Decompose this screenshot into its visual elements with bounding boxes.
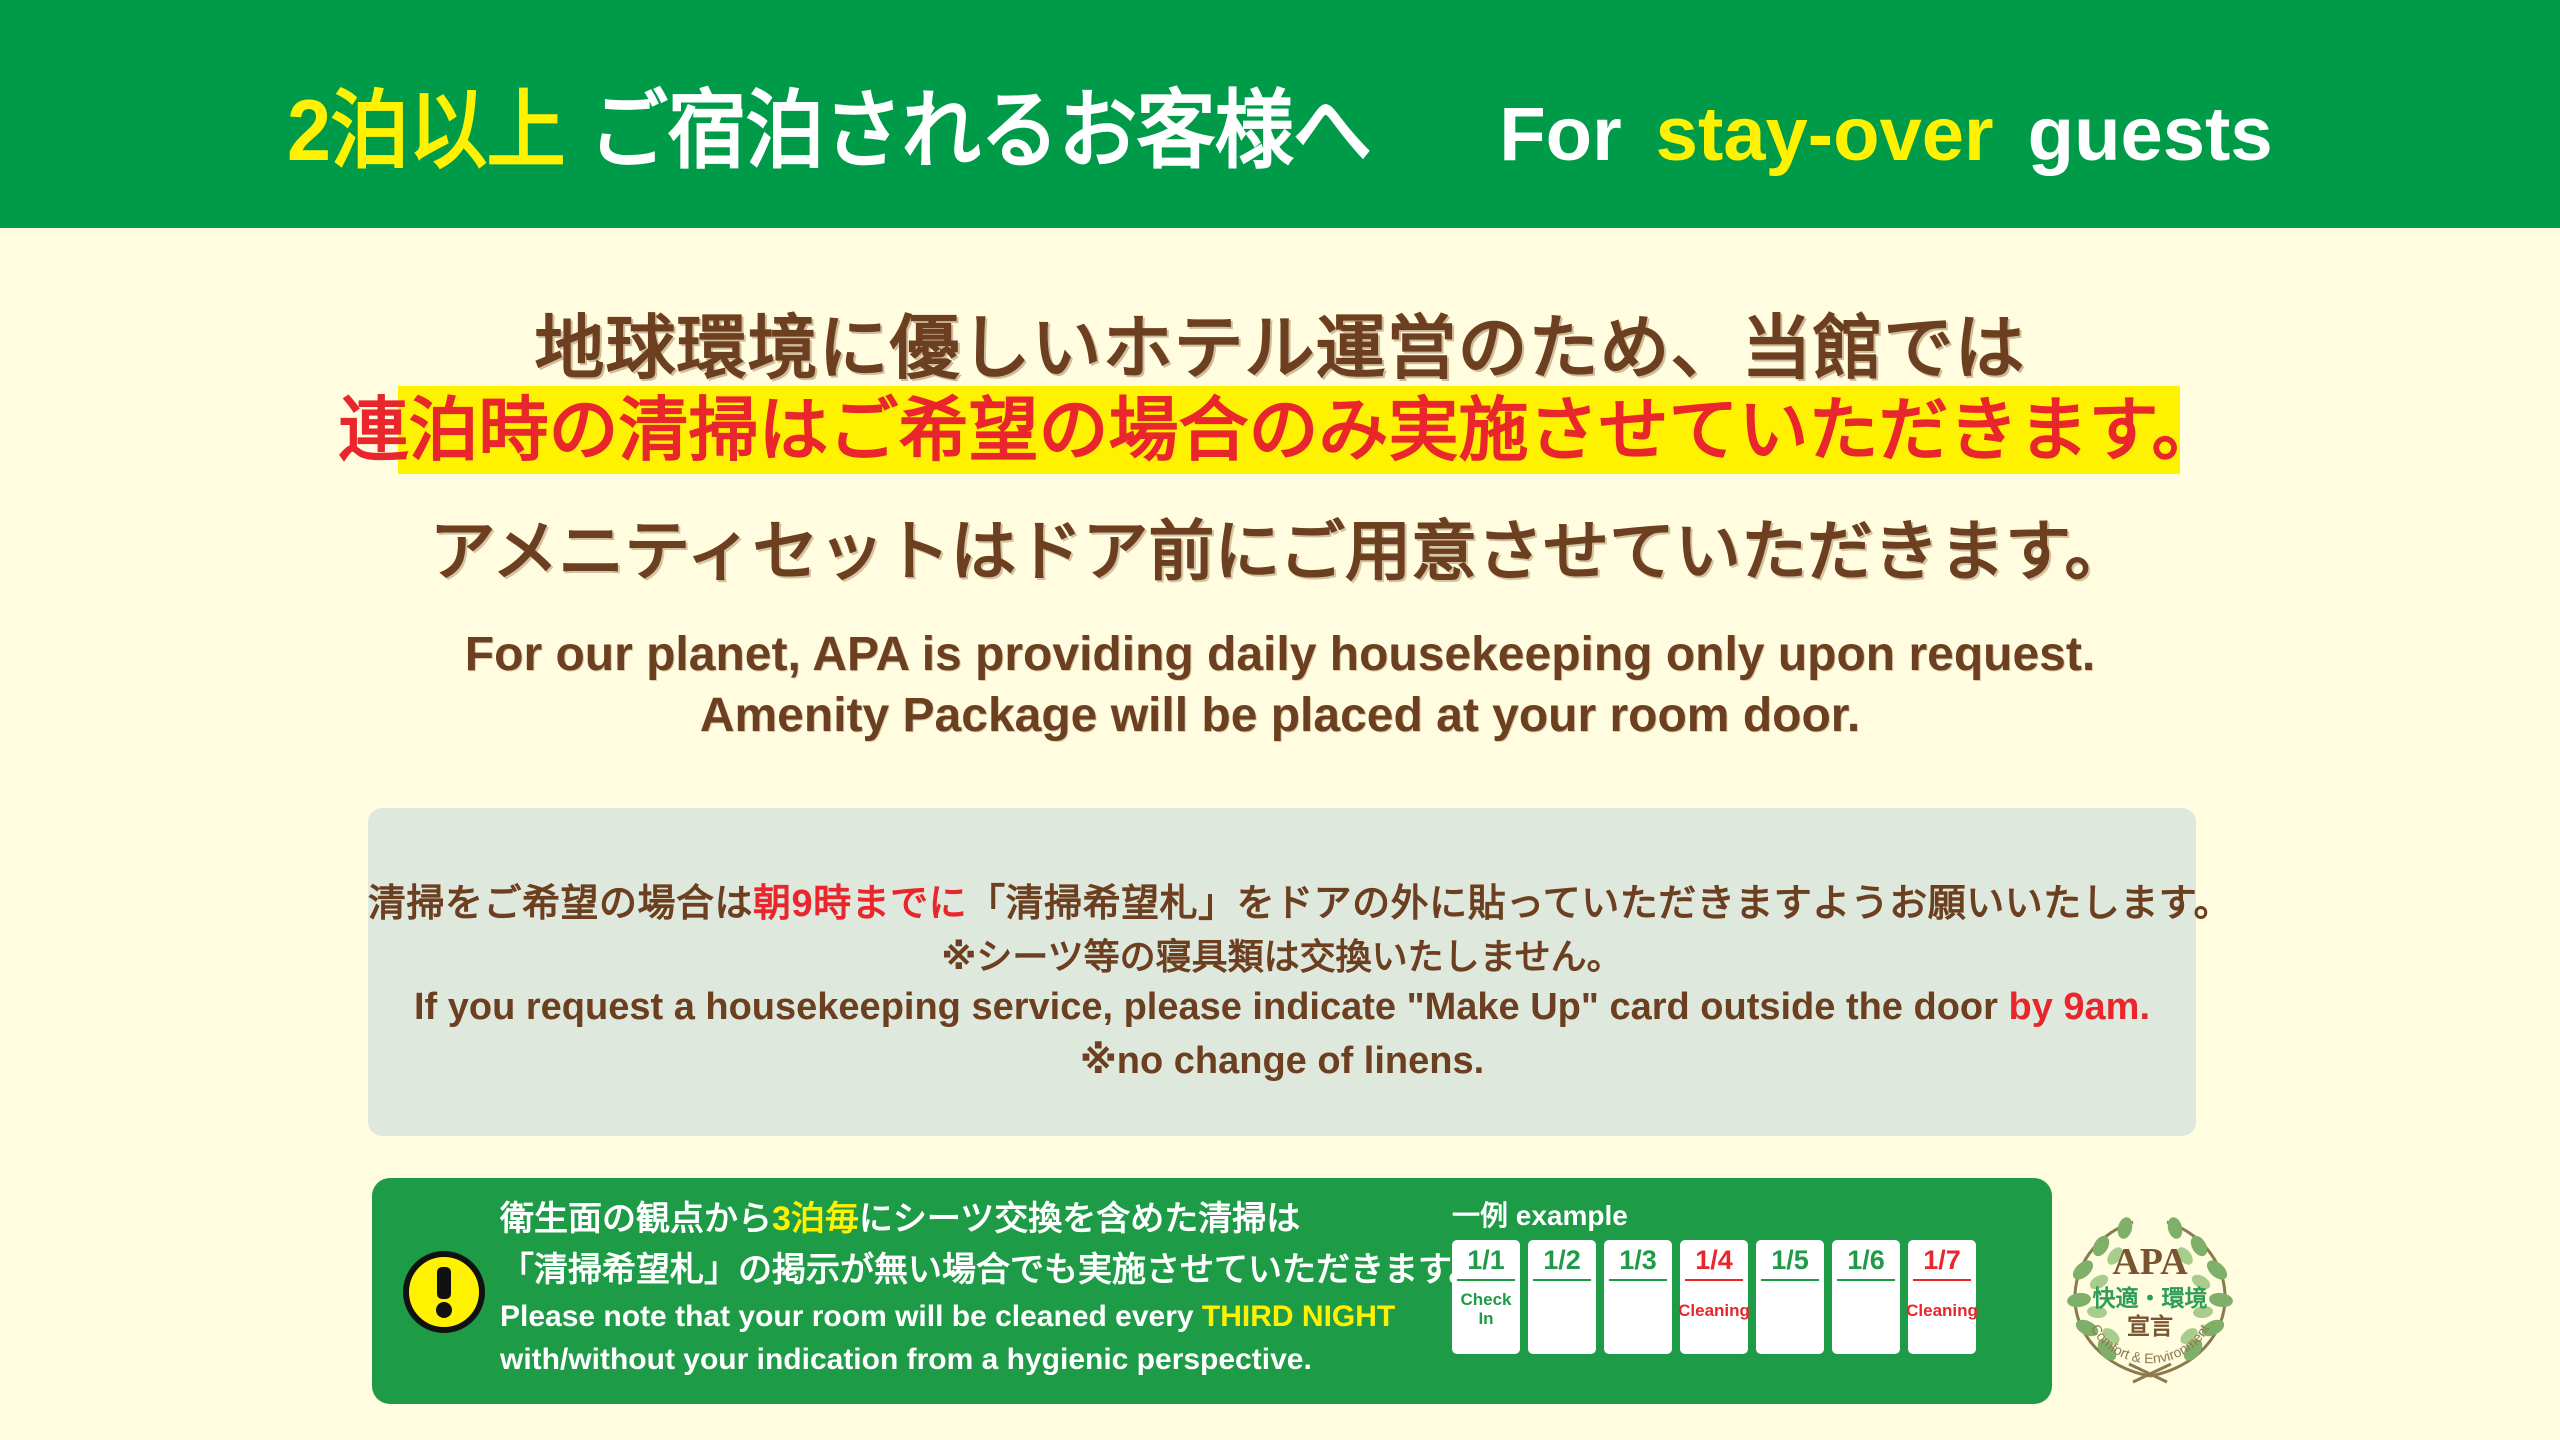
calendar-cell-date: 1/1 [1467, 1240, 1505, 1278]
header-jp-rest: ご宿泊されるお客様へ [589, 60, 1371, 185]
header-title-group: 2泊以上 ご宿泊されるお客様へ For stay-over guests [287, 60, 2272, 185]
banner-en-line-2: with/without your indication from a hygi… [500, 1339, 1420, 1382]
calendar-cell: 1/4Cleaning [1680, 1240, 1748, 1354]
logo-brand-text: APA [2112, 1241, 2188, 1283]
banner-jp-line-1-yellow: 3泊毎 [772, 1200, 859, 1238]
main-jp-line-2-period: 。 [2152, 391, 2222, 469]
calendar-cell: 1/6 [1832, 1240, 1900, 1354]
calendar-cell-date: 1/7 [1923, 1240, 1961, 1278]
calendar-cell-date: 1/4 [1695, 1240, 1733, 1278]
banner-en-line-1-yellow: THIRD NIGHT [1202, 1300, 1395, 1333]
warning-exclamation-icon [402, 1250, 486, 1334]
header-en-highlight: stay-over [1656, 91, 1994, 178]
notice-poster: 2泊以上 ご宿泊されるお客様へ For stay-over guests 地球環… [0, 0, 2560, 1440]
notice-jp-line-1-red: 朝9時までに [753, 883, 967, 925]
calendar-cell: 1/7Cleaning [1908, 1240, 1976, 1354]
main-jp-line-2: 連泊時の清掃はご希望の場合のみ実施させていただきます。 [0, 386, 2560, 474]
calendar-cell-rule [1609, 1279, 1667, 1281]
calendar-cell-rule [1913, 1279, 1971, 1281]
calendar-cell-rule [1533, 1279, 1591, 1281]
banner-jp-line-1-a: 衛生面の観点から [500, 1200, 772, 1238]
calendar-cell-note: Check In [1452, 1290, 1520, 1328]
notice-jp-line-1-a: 清掃をご希望の場合は [368, 883, 753, 925]
logo-jp-line-1: 快適・環境 [2093, 1285, 2208, 1311]
banner-jp-line-1-b: にシーツ交換を含めた清掃は [859, 1200, 1300, 1238]
calendar-cell-note: Cleaning [1678, 1301, 1750, 1320]
calendar-cell-rule [1457, 1279, 1515, 1281]
notice-en-line-2: ※no change of linens. [368, 1038, 2196, 1083]
notice-jp-line-1-b: 「清掃希望札」をドアの外に貼っていただきますようお願いいたします。 [967, 883, 2232, 925]
calendar-grid: 1/1Check In1/21/31/4Cleaning1/51/61/7Cle… [1452, 1240, 2012, 1354]
main-jp-line-2-text: 連泊時の清掃はご希望の場合のみ実施させていただきます [339, 391, 2152, 469]
banner-en-line-1-a: Please note that your room will be clean… [500, 1300, 1202, 1333]
main-jp-line-1: 地球環境に優しいホテル運営のため、当館では [0, 292, 2560, 393]
main-en-line-2: Amenity Package will be placed at your r… [0, 685, 2560, 746]
notice-jp-line-2: ※シーツ等の寝具類は交換いたしません。 [368, 928, 2196, 980]
notice-en-line-1: If you request a housekeeping service, p… [368, 986, 2196, 1029]
third-night-cleaning-banner: 衛生面の観点から3泊毎にシーツ交換を含めた清掃は 「清掃希望札」の掲示が無い場合… [372, 1178, 2052, 1404]
main-en-line-1: For our planet, APA is providing daily h… [0, 624, 2560, 685]
calendar-cell: 1/5 [1756, 1240, 1824, 1354]
calendar-cell-date: 1/2 [1543, 1240, 1581, 1278]
calendar-cell-rule [1685, 1279, 1743, 1281]
notice-en-line-1-red: by 9am. [2008, 986, 2150, 1028]
calendar-cell-rule [1761, 1279, 1819, 1281]
example-calendar: 一例 example 1/1Check In1/21/31/4Cleaning1… [1452, 1194, 2012, 1354]
calendar-title: 一例 example [1452, 1194, 2012, 1234]
calendar-cell: 1/1Check In [1452, 1240, 1520, 1354]
calendar-cell: 1/2 [1528, 1240, 1596, 1354]
header-en-pre: For [1499, 91, 1621, 178]
calendar-cell-date: 1/6 [1847, 1240, 1885, 1278]
notice-jp-line-1: 清掃をご希望の場合は朝9時までに「清掃希望札」をドアの外に貼っていただきますよう… [368, 872, 2196, 927]
housekeeping-request-box: 清掃をご希望の場合は朝9時までに「清掃希望札」をドアの外に貼っていただきますよう… [368, 808, 2196, 1136]
header-jp-highlight: 2泊以上 [287, 60, 565, 185]
calendar-cell: 1/3 [1604, 1240, 1672, 1354]
banner-en-line-1: Please note that your room will be clean… [500, 1296, 1420, 1339]
poster-header: 2泊以上 ご宿泊されるお客様へ For stay-over guests [0, 0, 2560, 228]
banner-text-block: 衛生面の観点から3泊毎にシーツ交換を含めた清掃は 「清掃希望札」の掲示が無い場合… [500, 1194, 1420, 1381]
header-en-post: guests [2028, 91, 2273, 178]
calendar-cell-date: 1/5 [1771, 1240, 1809, 1278]
notice-en-line-1-a: If you request a housekeeping service, p… [414, 986, 2009, 1028]
main-en-block: For our planet, APA is providing daily h… [0, 624, 2560, 747]
calendar-cell-note: Cleaning [1906, 1301, 1978, 1320]
calendar-cell-rule [1837, 1279, 1895, 1281]
calendar-cell-date: 1/3 [1619, 1240, 1657, 1278]
apa-comfort-environment-logo: APA 快適・環境 宣言 Comfort & Environment [2055, 1208, 2245, 1386]
logo-jp-line-2: 宣言 [2127, 1313, 2173, 1339]
banner-jp-line-1: 衛生面の観点から3泊毎にシーツ交換を含めた清掃は [500, 1194, 1420, 1245]
banner-jp-line-2: 「清掃希望札」の掲示が無い場合でも実施させていただきます。 [500, 1245, 1420, 1296]
main-jp-line-3: アメニティセットはドア前にご用意させていただきます。 [0, 498, 2560, 594]
